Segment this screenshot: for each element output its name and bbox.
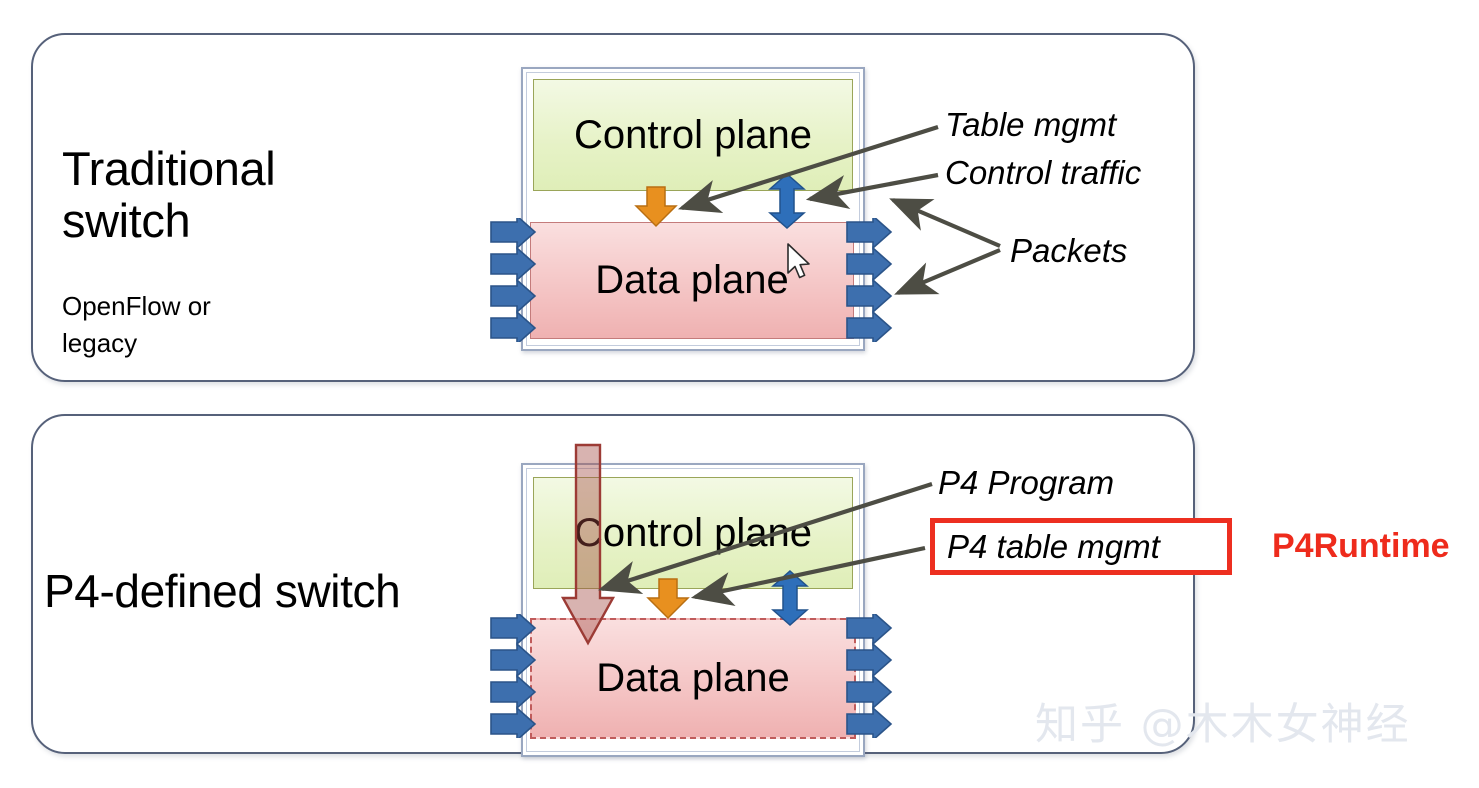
data-plane-label: Data plane [595,258,788,303]
panel-title-traditional: Traditional switch [62,143,275,247]
ports-right-traditional [845,218,897,342]
data-plane-label: Data plane [596,656,789,701]
p4-program-arrow-icon [560,443,616,648]
callout-p4-table-mgmt-text: P4 table mgmt [947,528,1160,566]
panel-title-p4-defined: P4-defined switch [44,565,400,617]
ports-left-traditional [489,218,541,342]
callout-table-mgmt: Table mgmt [945,106,1116,144]
panel-subtitle-traditional: OpenFlow or legacy [62,288,211,362]
table-mgmt-arrow-icon [633,186,679,228]
callout-control-traffic: Control traffic [945,154,1141,192]
watermark: 知乎 @木木女神经 [1035,690,1411,752]
callout-p4-program: P4 Program [938,464,1114,502]
p4-table-mgmt-arrow-icon [645,578,691,620]
callout-packets: Packets [1010,232,1127,270]
ports-right-p4 [845,614,897,738]
callout-p4-table-mgmt-box: P4 table mgmt [930,518,1232,575]
diagram-canvas: Traditional switch OpenFlow or legacy Co… [0,0,1479,788]
mouse-cursor-icon [786,243,812,281]
label-p4runtime: P4Runtime [1272,527,1450,566]
control-plane-label: Control plane [574,113,812,158]
ports-left-p4 [489,614,541,738]
control-traffic-arrow-icon [770,570,810,626]
control-traffic-arrow-icon [767,173,807,229]
